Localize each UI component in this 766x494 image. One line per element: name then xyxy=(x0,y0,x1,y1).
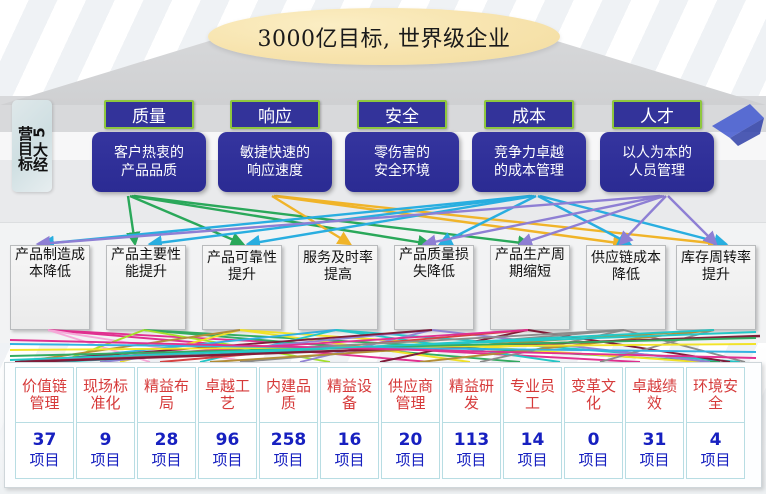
program-count-5: 258 xyxy=(271,431,307,450)
goal-box-5-line2: 人员管理 xyxy=(629,162,685,180)
program-value-12: 4 项目 xyxy=(686,423,745,479)
program-column-1[interactable]: 价值链管理 37 项目 xyxy=(15,367,74,483)
goal-box-2-line2: 响应速度 xyxy=(247,162,303,180)
title-ellipse: 3000亿目标, 世界级企业 xyxy=(208,8,560,65)
program-value-2: 9 项目 xyxy=(76,423,135,479)
program-unit-11: 项目 xyxy=(639,451,669,470)
program-label-6: 精益设备 xyxy=(320,367,379,423)
program-unit-3: 项目 xyxy=(151,451,181,470)
program-label-7: 供应商管理 xyxy=(381,367,440,423)
program-column-9[interactable]: 专业员工 14 项目 xyxy=(503,367,562,483)
program-count-4: 96 xyxy=(216,431,240,450)
program-value-4: 96 项目 xyxy=(198,423,257,479)
programs-table-row: 价值链管理 37 项目 现场标准化 9 项目 精益布局 28 项目 xyxy=(15,367,755,483)
goal-box-2-body: 敏捷快速的 响应速度 xyxy=(218,132,332,192)
program-column-8[interactable]: 精益研发 113 项目 xyxy=(442,367,501,483)
objective-box-4[interactable]: 服务及时率提高 xyxy=(298,245,378,330)
program-count-10: 0 xyxy=(588,431,600,450)
program-unit-4: 项目 xyxy=(212,451,242,470)
objective-box-5-label: 产品质量损失降低 xyxy=(395,247,473,280)
page-title: 3000亿目标, 世界级企业 xyxy=(258,21,511,53)
objective-box-6-label: 产品生产周期缩短 xyxy=(491,247,569,280)
goal-box-1-body: 客户热衷的 产品品质 xyxy=(92,132,206,192)
program-count-2: 9 xyxy=(100,431,112,450)
program-label-10: 变革文化 xyxy=(564,367,623,423)
goal-box-4[interactable]: 成本 竞争力卓越 的成本管理 xyxy=(472,100,586,192)
program-value-5: 258 项目 xyxy=(259,423,318,479)
program-label-3: 精益布局 xyxy=(137,367,196,423)
objective-box-7-label: 供应链成本降低 xyxy=(587,250,665,284)
program-column-5[interactable]: 内建品质 258 项目 xyxy=(259,367,318,483)
goal-box-2[interactable]: 响应 敏捷快速的 响应速度 xyxy=(218,100,332,192)
program-value-1: 37 项目 xyxy=(15,423,74,479)
program-column-4[interactable]: 卓越工艺 96 项目 xyxy=(198,367,257,483)
objective-box-1[interactable]: 产品制造成本降低 xyxy=(10,245,90,330)
program-label-1: 价值链管理 xyxy=(15,367,74,423)
program-value-7: 20 项目 xyxy=(381,423,440,479)
program-label-9: 专业员工 xyxy=(503,367,562,423)
program-count-8: 113 xyxy=(454,431,490,450)
program-label-12: 环境安全 xyxy=(686,367,745,423)
program-value-3: 28 项目 xyxy=(137,423,196,479)
goal-box-3-line1: 零伤害的 xyxy=(374,144,430,162)
goal-box-3-caption: 安全 xyxy=(357,100,447,129)
goal-box-2-line1: 敏捷快速的 xyxy=(240,144,310,162)
goal-box-1-line2: 产品品质 xyxy=(121,162,177,180)
program-value-10: 0 项目 xyxy=(564,423,623,479)
goal-box-3-body: 零伤害的 安全环境 xyxy=(345,132,459,192)
program-label-4: 卓越工艺 xyxy=(198,367,257,423)
goal-box-4-line2: 的成本管理 xyxy=(494,162,564,180)
program-column-7[interactable]: 供应商管理 20 项目 xyxy=(381,367,440,483)
objective-box-5[interactable]: 产品质量损失降低 xyxy=(394,245,474,330)
goal-box-1[interactable]: 质量 客户热衷的 产品品质 xyxy=(92,100,206,192)
program-column-6[interactable]: 精益设备 16 项目 xyxy=(320,367,379,483)
sidebar-col-right-text: 大经 xyxy=(31,142,49,172)
goal-box-5[interactable]: 人才 以人为本的 人员管理 xyxy=(600,100,714,192)
objective-box-3-label: 产品可靠性提升 xyxy=(203,250,281,284)
objective-box-8[interactable]: 库存周转率提升 xyxy=(676,245,756,330)
sidebar-five-goals: 5大经 营目标 xyxy=(12,100,52,192)
goal-box-1-caption: 质量 xyxy=(104,100,194,129)
program-unit-5: 项目 xyxy=(273,451,303,470)
goal-box-3-line2: 安全环境 xyxy=(374,162,430,180)
program-count-3: 28 xyxy=(155,431,179,450)
objective-box-4-label: 服务及时率提高 xyxy=(299,250,377,284)
program-label-5: 内建品质 xyxy=(259,367,318,423)
program-value-11: 31 项目 xyxy=(625,423,684,479)
program-value-9: 14 项目 xyxy=(503,423,562,479)
goal-box-4-body: 竞争力卓越 的成本管理 xyxy=(472,132,586,192)
goal-box-3[interactable]: 安全 零伤害的 安全环境 xyxy=(345,100,459,192)
program-count-1: 37 xyxy=(33,431,57,450)
objective-box-2-label: 产品主要性能提升 xyxy=(107,247,185,280)
program-count-6: 16 xyxy=(338,431,362,450)
slide-canvas: 3000亿目标, 世界级企业 5大经 营目标 xyxy=(0,0,766,494)
program-column-12[interactable]: 环境安全 4 项目 xyxy=(686,367,745,483)
goal-box-5-body: 以人为本的 人员管理 xyxy=(600,132,714,192)
sidebar-number: 5 xyxy=(31,126,49,141)
program-column-2[interactable]: 现场标准化 9 项目 xyxy=(76,367,135,483)
program-count-9: 14 xyxy=(521,431,545,450)
program-column-10[interactable]: 变革文化 0 项目 xyxy=(564,367,623,483)
program-count-11: 31 xyxy=(643,431,667,450)
program-label-8: 精益研发 xyxy=(442,367,501,423)
objective-box-2[interactable]: 产品主要性能提升 xyxy=(106,245,186,330)
program-label-11: 卓越绩效 xyxy=(625,367,684,423)
program-unit-9: 项目 xyxy=(517,451,547,470)
program-unit-1: 项目 xyxy=(29,451,59,470)
goal-box-4-line1: 竞争力卓越 xyxy=(494,144,564,162)
program-count-12: 4 xyxy=(710,431,722,450)
goal-box-2-caption: 响应 xyxy=(230,100,320,129)
goal-box-5-line1: 以人为本的 xyxy=(622,144,692,162)
objective-box-3[interactable]: 产品可靠性提升 xyxy=(202,245,282,330)
program-unit-10: 项目 xyxy=(578,451,608,470)
program-count-7: 20 xyxy=(399,431,423,450)
programs-table: 价值链管理 37 项目 现场标准化 9 项目 精益布局 28 项目 xyxy=(4,362,762,488)
program-column-3[interactable]: 精益布局 28 项目 xyxy=(137,367,196,483)
program-label-2: 现场标准化 xyxy=(76,367,135,423)
program-column-11[interactable]: 卓越绩效 31 项目 xyxy=(625,367,684,483)
objective-box-7[interactable]: 供应链成本降低 xyxy=(586,245,666,330)
objective-box-6[interactable]: 产品生产周期缩短 xyxy=(490,245,570,330)
decorative-arrow-icon xyxy=(708,100,764,146)
goal-box-1-line1: 客户热衷的 xyxy=(114,144,184,162)
objective-box-1-label: 产品制造成本降低 xyxy=(11,247,89,280)
sidebar-col-right: 5大经 xyxy=(32,124,47,172)
program-unit-2: 项目 xyxy=(90,451,120,470)
program-value-8: 113 项目 xyxy=(442,423,501,479)
goal-box-4-caption: 成本 xyxy=(484,100,574,129)
program-unit-12: 项目 xyxy=(700,451,730,470)
program-value-6: 16 项目 xyxy=(320,423,379,479)
objective-box-8-label: 库存周转率提升 xyxy=(677,250,755,284)
goal-box-5-caption: 人才 xyxy=(612,100,702,129)
program-unit-7: 项目 xyxy=(395,451,425,470)
program-unit-6: 项目 xyxy=(334,451,364,470)
program-unit-8: 项目 xyxy=(456,451,486,470)
